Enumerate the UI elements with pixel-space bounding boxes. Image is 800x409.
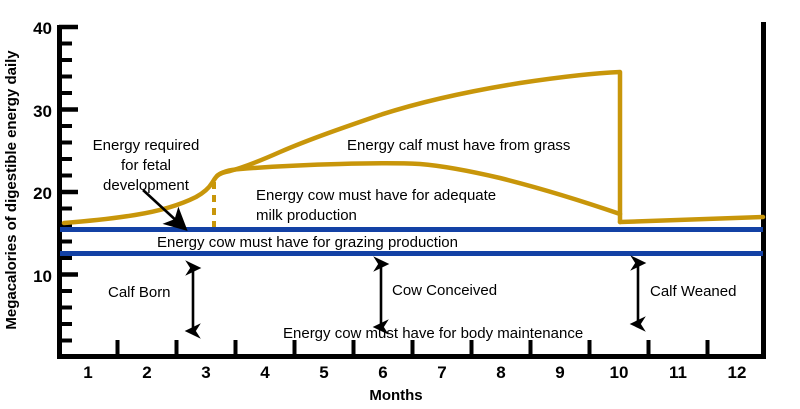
calf-grass-annotation: Energy calf must have from grass — [347, 137, 570, 154]
x-label-7: 7 — [437, 363, 446, 382]
fetal-development-line-1: Energy required — [93, 137, 200, 154]
x-label-1: 1 — [83, 363, 92, 382]
fetal-development-line-2: for fetal — [121, 157, 171, 174]
body-maintenance-label: Energy cow must have for body maintenanc… — [283, 325, 583, 342]
x-label-8: 8 — [496, 363, 505, 382]
x-label-11: 11 — [669, 363, 687, 382]
x-label-9: 9 — [555, 363, 564, 382]
x-label-5: 5 — [319, 363, 328, 382]
calf-born-label: Calf Born — [108, 284, 171, 301]
chart-background — [0, 0, 800, 409]
fetal-development-line-3: development — [103, 177, 190, 194]
energy-requirement-chart: 40 30 20 10 1 2 3 4 5 6 7 8 9 10 11 12 M… — [0, 0, 800, 409]
grazing-production-label: Energy cow must have for grazing product… — [157, 234, 458, 251]
y-label-20: 20 — [33, 184, 52, 203]
milk-production-line-1: Energy cow must have for adequate — [256, 187, 496, 204]
x-label-2: 2 — [142, 363, 151, 382]
y-label-10: 10 — [33, 267, 52, 286]
calf-weaned-label: Calf Weaned — [650, 283, 736, 300]
x-axis-title: Months — [369, 387, 422, 404]
milk-production-line-2: milk production — [256, 207, 357, 224]
x-label-4: 4 — [260, 363, 270, 382]
y-label-40: 40 — [33, 19, 52, 38]
chart-root: 40 30 20 10 1 2 3 4 5 6 7 8 9 10 11 12 M… — [0, 0, 800, 409]
x-label-3: 3 — [201, 363, 210, 382]
x-label-6: 6 — [378, 363, 387, 382]
y-axis-title: Megacalories of digestible energy daily — [3, 50, 20, 330]
x-label-10: 10 — [610, 363, 629, 382]
y-label-30: 30 — [33, 102, 52, 121]
x-label-12: 12 — [728, 363, 747, 382]
cow-conceived-label: Cow Conceived — [392, 282, 497, 299]
